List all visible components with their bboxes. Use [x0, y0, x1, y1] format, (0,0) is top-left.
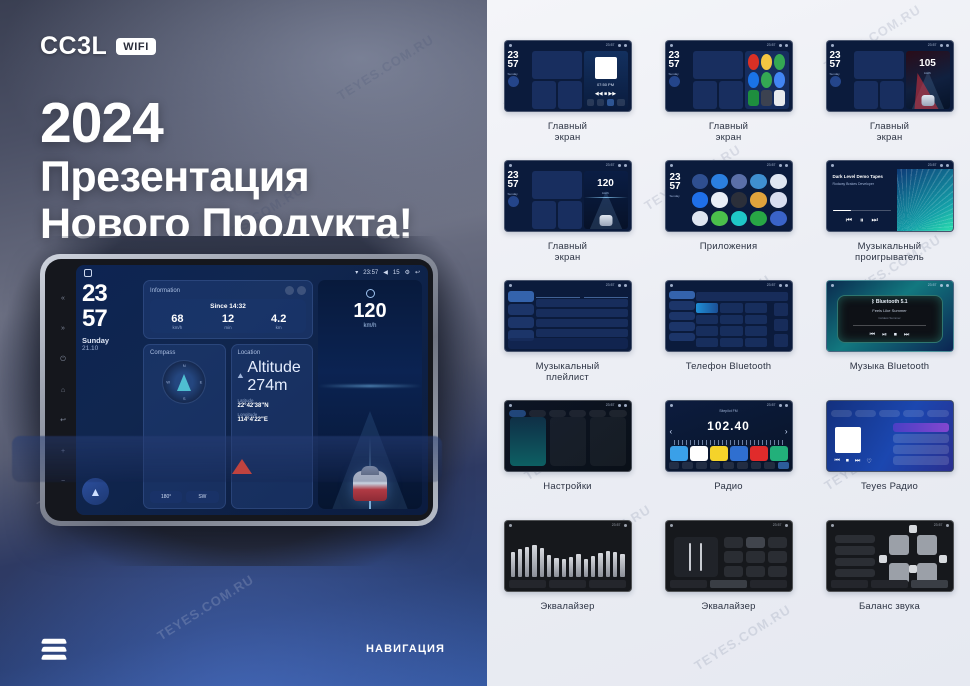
app-icon[interactable] — [731, 192, 748, 207]
preset-button[interactable] — [724, 566, 743, 577]
phone-action-column[interactable] — [774, 303, 788, 347]
player-info: Dark Level Demo Tapes Rodway Brakes Deve… — [827, 169, 898, 231]
gallery-cell[interactable]: 23:57 2357Sunday 07:50 PM ◀◀ ■ ▶▶ Главны… — [487, 40, 648, 160]
compass-direction: SW — [186, 491, 218, 503]
wifi-icon: ▾ — [355, 269, 358, 276]
equalizer-tabs[interactable] — [831, 580, 949, 588]
information-card[interactable]: Information Since 14:32 68 — [143, 280, 313, 339]
tab-wifi[interactable] — [509, 410, 526, 417]
product-logo: CC3L WIFI — [40, 32, 156, 61]
list-item[interactable] — [893, 445, 949, 454]
drive-speed-value: 120 — [584, 178, 628, 189]
thumb-applications[interactable]: 23:57 2357Sunday — [665, 160, 793, 232]
next-icon[interactable]: ⏭ — [855, 458, 860, 465]
key-hash[interactable] — [745, 338, 768, 348]
thumb-caption: Музыкальный проигрыватель — [855, 241, 924, 263]
compass-east-label: E — [200, 380, 203, 385]
key-prev-icon[interactable]: « — [61, 295, 65, 302]
balance-pad[interactable] — [889, 535, 937, 583]
preset-icon[interactable] — [710, 446, 728, 461]
radio-prev-icon[interactable]: ‹ — [670, 427, 673, 436]
playlist-rows[interactable] — [536, 299, 628, 337]
eq-slider[interactable] — [532, 545, 536, 577]
trip-since: Since 14:32 — [152, 303, 304, 310]
compass-dial: N S W E — [162, 360, 206, 404]
altitude-row: ⛰ Altitude 274m — [238, 359, 307, 395]
next-icon[interactable]: ⏭ — [904, 332, 909, 339]
trip-stat-value: 68 — [152, 313, 203, 325]
balance-up-button[interactable] — [909, 525, 917, 533]
phone-number-field[interactable] — [696, 292, 788, 301]
equalizer-tabs[interactable] — [670, 580, 788, 588]
screens-grid: 23:57 2357Sunday 07:50 PM ◀◀ ■ ▶▶ Главны… — [487, 40, 970, 640]
trip-stat: 4.2 km — [253, 313, 304, 330]
application-grid[interactable] — [690, 172, 789, 228]
preset-button[interactable] — [768, 566, 787, 577]
clock-minutes: 57 — [82, 308, 138, 330]
horizon-line — [318, 385, 422, 387]
list-item[interactable] — [893, 423, 949, 432]
gallery-cell[interactable]: 23:57 Музыкальный плейлист — [487, 280, 648, 400]
radio-face: Sitepilot FM 102.40 ‹ › — [666, 409, 792, 471]
eq2-sliders[interactable] — [674, 537, 718, 577]
eq-slider[interactable] — [598, 553, 602, 577]
radio-tuning-scale[interactable] — [674, 440, 784, 445]
app-icon[interactable] — [711, 174, 728, 189]
list-item[interactable] — [835, 535, 875, 543]
car-dashboard: « » ⏻ ⌂ ↩ + − ▾ 23:57 ◀ 15 — [0, 236, 487, 566]
thumb-caption: Эквалайзер — [540, 601, 594, 612]
balance-down-button[interactable] — [909, 565, 917, 573]
preset-icon[interactable] — [730, 446, 748, 461]
trip-stats: 68 km/h 12 min 4.2 — [152, 313, 304, 330]
navigation-arrow-icon[interactable] — [508, 76, 519, 87]
bluetooth-music-card: ᛒ Bluetooth 5.1 Feels Like Summer Coldes… — [837, 295, 943, 343]
thumb-home-screen-drive2[interactable]: 23:57 2357Sunday 120 km/h — [504, 160, 632, 232]
thumb-caption: Телефон Bluetooth — [686, 361, 772, 372]
thumb-music-playlist[interactable]: 23:57 — [504, 280, 632, 352]
compass-bearing: 180° — [150, 491, 182, 503]
preset-icon[interactable] — [770, 446, 788, 461]
stop-icon[interactable]: ⏹ — [894, 332, 897, 339]
list-item[interactable] — [536, 309, 628, 317]
app-icon[interactable] — [761, 54, 772, 70]
drive-widget[interactable]: 120 km/h — [584, 171, 628, 229]
gallery-cell[interactable]: 23:57 Баланс звука — [809, 520, 970, 640]
app-icon[interactable] — [731, 174, 748, 189]
volume-value: 15 — [393, 270, 400, 276]
preset-icon[interactable] — [670, 446, 688, 461]
eq-slider[interactable] — [562, 559, 566, 577]
app-icon[interactable] — [692, 192, 709, 207]
stop-icon[interactable]: ⏹ — [846, 458, 849, 465]
list-item[interactable] — [835, 569, 875, 577]
wifi-badge: WIFI — [116, 38, 156, 55]
thumb-home-screen-media[interactable]: 23:57 2357Sunday 07:50 PM ◀◀ ■ ▶▶ — [504, 40, 632, 112]
key-5[interactable] — [720, 315, 743, 325]
hazard-light-button[interactable] — [232, 459, 252, 474]
phone-sidebar[interactable] — [669, 291, 695, 341]
bt-controls[interactable]: ⏮ ⏯ ⏹ ⏭ — [870, 332, 910, 339]
equalizer-tabs[interactable] — [509, 580, 627, 588]
latitude-row: Latitude 22°42'38"N — [238, 398, 307, 409]
media-widget[interactable]: 07:50 PM ◀◀ ■ ▶▶ — [584, 51, 628, 109]
tab-eq[interactable] — [831, 580, 868, 588]
thumb-bluetooth-phone[interactable]: 23:57 — [665, 280, 793, 352]
trip-stat-unit: km/h — [152, 325, 203, 330]
playlist-sidebar[interactable] — [508, 291, 534, 341]
compass-north-label: N — [183, 363, 186, 368]
eq-slider[interactable] — [700, 543, 702, 572]
widget-row-2: Compass N S W E 180° — [143, 344, 313, 509]
key-star[interactable] — [696, 338, 719, 348]
player-progress-bar[interactable] — [833, 210, 892, 212]
playlist-tabs[interactable] — [536, 291, 628, 298]
app-icon[interactable] — [711, 211, 728, 226]
settings-tabs[interactable] — [509, 410, 627, 417]
clock-day: Sunday — [82, 336, 138, 345]
refresh-icon[interactable] — [285, 286, 294, 295]
speed-value: 120 — [318, 301, 422, 321]
compass-south-label: S — [183, 396, 186, 401]
radio-next-icon[interactable]: › — [785, 427, 788, 436]
eq-slider[interactable] — [525, 547, 529, 577]
altitude-label: Altitude — [247, 359, 300, 377]
preset-button[interactable] — [724, 537, 743, 548]
play-pause-icon[interactable]: ⏯ — [882, 332, 887, 339]
thumb-caption: Радио — [714, 481, 742, 492]
thumb-equalizer[interactable]: 23:57 — [504, 520, 632, 592]
more-tile[interactable] — [590, 417, 626, 466]
longitude-value: 114°4'22"E — [238, 417, 307, 423]
speedometer-icon — [366, 289, 375, 298]
app-icon[interactable] — [774, 54, 785, 70]
preset-button[interactable] — [746, 537, 765, 548]
radio-band: Sitepilot FM — [666, 409, 792, 413]
compass-card-title: Compass — [150, 350, 219, 356]
eq-slider[interactable] — [613, 552, 617, 577]
player-track-title: Dark Level Demo Tapes — [833, 174, 892, 179]
gear-icon[interactable]: ⚙ — [405, 269, 410, 276]
tab-item[interactable] — [903, 410, 924, 417]
thumb-caption: Главный экран — [548, 121, 587, 143]
car-model-icon — [599, 215, 612, 226]
favorite-icon[interactable]: ♡ — [866, 458, 871, 465]
favorite-icon[interactable] — [774, 303, 788, 316]
back-icon[interactable]: ↩ — [415, 269, 420, 276]
app-icon[interactable] — [748, 90, 759, 106]
dashboard-vent-panel — [12, 436, 442, 482]
preset-button[interactable] — [746, 551, 765, 562]
speaker-front-left[interactable] — [889, 535, 909, 555]
navigation-arrow-icon[interactable] — [669, 76, 680, 87]
eq-slider[interactable] — [554, 558, 558, 577]
thumb-equalizer-2[interactable]: 23:57 — [665, 520, 793, 592]
key-4[interactable] — [696, 315, 719, 325]
status-bar: ▾ 23:57 ◀ 15 ⚙ ↩ — [76, 265, 428, 280]
tab-songs[interactable] — [536, 291, 580, 298]
compass-west-label: W — [166, 380, 170, 385]
thumb-caption: Настройки — [543, 481, 591, 492]
list-item[interactable] — [536, 329, 628, 337]
eq-slider[interactable] — [606, 551, 610, 577]
product-logo-text: CC3L — [40, 32, 107, 61]
tab-preset[interactable] — [750, 580, 787, 588]
list-item[interactable] — [536, 299, 628, 307]
app-icon[interactable] — [692, 174, 709, 189]
app-icon[interactable] — [731, 211, 748, 226]
trip-stat-unit: km — [253, 325, 304, 330]
tab-item[interactable] — [855, 410, 876, 417]
mini-status-bar: 23:57 — [505, 41, 631, 49]
list-item[interactable] — [536, 319, 628, 327]
app-icon[interactable] — [750, 174, 767, 189]
tab-sound[interactable] — [529, 410, 546, 417]
gallery-cell[interactable]: 23:57 Dark Level Demo Tapes Rodway Brake… — [809, 160, 970, 280]
speaker-front-right[interactable] — [917, 535, 937, 555]
expand-icon[interactable] — [297, 286, 306, 295]
player-controls[interactable]: ⏮ ⏸ ⏭ — [827, 217, 898, 225]
thumb-radio[interactable]: 23:57 Sitepilot FM 102.40 ‹ › — [665, 400, 793, 472]
tab-preset[interactable] — [911, 580, 948, 588]
app-drawer-icon[interactable] — [774, 90, 785, 106]
teyes-radio-tabs[interactable] — [831, 410, 949, 417]
teyes-radio-controls[interactable]: ⏮ ⏹ ⏭ ♡ — [835, 458, 872, 465]
information-card-body: Since 14:32 68 km/h 12 min — [150, 299, 306, 333]
preset-button[interactable] — [724, 551, 743, 562]
bluetooth-icon: ᛒ — [871, 299, 874, 305]
thumb-caption: Главный экран — [709, 121, 748, 143]
previous-icon[interactable]: ⏮ — [870, 332, 875, 339]
radio-frequency: 102.40 — [666, 419, 792, 433]
key-back-icon[interactable]: ↩ — [60, 417, 66, 424]
app-icon[interactable] — [761, 72, 772, 88]
list-item[interactable] — [835, 546, 875, 554]
preset-button[interactable] — [768, 537, 787, 548]
thumb-sound-balance[interactable]: 23:57 — [826, 520, 954, 592]
preset-button[interactable] — [746, 566, 765, 577]
tab-item[interactable] — [831, 410, 852, 417]
next-icon[interactable]: ⏭ — [872, 217, 878, 225]
thumb-music-player[interactable]: 23:57 Dark Level Demo Tapes Rodway Brake… — [826, 160, 954, 232]
tab-apps[interactable] — [569, 410, 586, 417]
thumb-caption: Эквалайзер — [701, 601, 755, 612]
location-card[interactable]: Location ⛰ Altitude 274m — [231, 344, 314, 509]
thumb-teyes-radio[interactable]: ⏮ ⏹ ⏭ ♡ — [826, 400, 954, 472]
trip-stat-value: 12 — [203, 313, 254, 325]
tab-balance[interactable] — [710, 580, 747, 588]
eq-slider[interactable] — [569, 557, 573, 577]
tab-general[interactable] — [589, 410, 606, 417]
app-icon[interactable] — [770, 192, 787, 207]
list-item[interactable] — [835, 558, 875, 566]
navigation-arrow-icon[interactable] — [508, 196, 519, 207]
eq-slider[interactable] — [518, 549, 522, 577]
tab-system[interactable] — [609, 410, 626, 417]
hero-footer: НАВИГАЦИЯ — [0, 612, 487, 686]
gallery-cell[interactable]: 23:57 Sitepilot FM 102.40 ‹ › — [648, 400, 809, 520]
mountain-icon: ⛰ — [238, 373, 244, 381]
equalizer-sliders[interactable] — [511, 537, 625, 577]
tab-item[interactable] — [927, 410, 948, 417]
thumb-caption: Главный экран — [548, 241, 587, 263]
thumb-caption: Музыка Bluetooth — [850, 361, 930, 372]
clock-date: 21.10 — [82, 345, 138, 352]
key-next-icon[interactable]: » — [61, 325, 65, 332]
app-icon[interactable] — [692, 211, 709, 226]
app-icon[interactable] — [761, 90, 772, 106]
wifi-tile[interactable] — [510, 417, 546, 466]
gallery-cell[interactable]: 23:57 Эквалайзер — [648, 520, 809, 640]
trip-stat-unit: min — [203, 325, 254, 330]
key-power-icon[interactable]: ⏻ — [60, 356, 66, 363]
key-0[interactable] — [720, 338, 743, 348]
balance-preset-list[interactable] — [835, 535, 875, 577]
drive-speed-value: 105 — [906, 58, 950, 69]
gallery-cell[interactable]: 23:57 Телефон Bluetooth — [648, 280, 809, 400]
footer-label: НАВИГАЦИЯ — [366, 643, 445, 655]
compass-needle-icon — [177, 374, 191, 391]
radio-presets[interactable] — [670, 446, 788, 461]
trip-stat-value: 4.2 — [253, 313, 304, 325]
player-track-artist: Rodway Brakes Developer — [833, 182, 892, 186]
tab-eq[interactable] — [670, 580, 707, 588]
eq-slider[interactable] — [591, 556, 595, 577]
playlist-now-playing-bar[interactable] — [508, 338, 628, 349]
head-unit-bezel: « » ⏻ ⌂ ↩ + − ▾ 23:57 ◀ 15 — [40, 254, 438, 526]
list-item[interactable] — [893, 434, 949, 443]
app-icon[interactable] — [711, 192, 728, 207]
app-icon[interactable] — [770, 211, 787, 226]
screens-gallery-panel: TEYES.COM.RU TEYES.COM.RU TEYES.COM.RU T… — [487, 0, 970, 686]
layers-icon — [42, 638, 66, 660]
thumb-caption: Приложения — [700, 241, 758, 252]
bt-progress-bar[interactable] — [853, 325, 926, 326]
volume-icon[interactable]: ◀ — [383, 269, 388, 276]
gallery-cell[interactable]: 23:57 — [487, 520, 648, 640]
speed-unit: km/h — [318, 323, 422, 329]
eq2-presets[interactable] — [724, 537, 787, 577]
gallery-cell[interactable]: ⏮ ⏹ ⏭ ♡ Teyes Радио — [809, 400, 970, 520]
tab-display[interactable] — [549, 410, 566, 417]
altitude-value: 274m — [247, 377, 287, 394]
album-art — [835, 427, 861, 453]
eq-slider[interactable] — [547, 555, 551, 577]
bluetooth-label: ᛒ Bluetooth 5.1 — [871, 299, 907, 305]
tab-folders[interactable] — [584, 291, 628, 298]
thumb-home-screen-apps[interactable]: 23:57 2357Sunday — [665, 40, 793, 112]
app-icon[interactable] — [748, 72, 759, 88]
compass-readouts: 180° SW — [150, 491, 219, 503]
gallery-cell[interactable]: 23:57 ᛒ Bluetooth 5.1 Feels Like Summer … — [809, 280, 970, 400]
latitude-value: 22°42'38"N — [238, 403, 307, 409]
key-6[interactable] — [745, 315, 768, 325]
drive-widget[interactable]: 105 km/h — [906, 51, 950, 109]
previous-icon[interactable]: ⏮ — [835, 458, 840, 465]
location-card-title: Location — [238, 350, 307, 356]
radio-toolbar[interactable] — [669, 462, 789, 469]
car-model-icon — [921, 95, 934, 106]
home-icon[interactable] — [84, 269, 92, 277]
tab-eq[interactable] — [509, 580, 546, 588]
eq-slider[interactable] — [584, 559, 588, 577]
gallery-cell[interactable]: 23:57 2357Sunday 120 km/h Главный экран — [487, 160, 648, 280]
preset-icon[interactable] — [750, 446, 768, 461]
key-2[interactable] — [720, 303, 743, 313]
key-1[interactable] — [696, 303, 719, 313]
status-clock: 23:57 — [363, 270, 378, 276]
preset-button[interactable] — [768, 551, 787, 562]
teyes-radio-station-list[interactable] — [893, 423, 949, 465]
thumb-home-screen-drive[interactable]: 23:57 2357Sunday 105 km/h — [826, 40, 954, 112]
navigation-arrow-icon[interactable] — [830, 76, 841, 87]
speed-readout: 120 km/h — [318, 289, 422, 329]
key-8[interactable] — [720, 326, 743, 336]
eq-slider[interactable] — [511, 552, 515, 577]
headline-year: 2024 — [40, 92, 460, 154]
thumb-bluetooth-music[interactable]: 23:57 ᛒ Bluetooth 5.1 Feels Like Summer … — [826, 280, 954, 352]
app-icon[interactable] — [750, 192, 767, 207]
key-home-icon[interactable]: ⌂ — [61, 387, 65, 394]
gallery-cell[interactable]: 23:57 2357Sunday 105 km/h Главный экран — [809, 40, 970, 160]
tab-balance[interactable] — [549, 580, 586, 588]
player-visualizer — [897, 169, 952, 231]
phone-keypad[interactable] — [696, 303, 768, 347]
eq-slider[interactable] — [620, 554, 624, 577]
trip-stat: 68 km/h — [152, 313, 203, 330]
thumb-caption: Teyes Радио — [861, 481, 918, 492]
tab-balance[interactable] — [871, 580, 908, 588]
tab-item[interactable] — [879, 410, 900, 417]
thumb-caption: Баланс звука — [859, 601, 920, 612]
gallery-cell[interactable]: 23:57 2357Sunday — [648, 160, 809, 280]
call-icon[interactable] — [774, 334, 788, 347]
app-icon[interactable] — [748, 54, 759, 70]
key-7[interactable] — [696, 326, 719, 336]
preset-icon[interactable] — [690, 446, 708, 461]
app-icon[interactable] — [750, 211, 767, 226]
page-title: 2024 Презентация Нового Продукта! — [40, 92, 460, 248]
app-icon[interactable] — [774, 72, 785, 88]
balance-left-button[interactable] — [879, 555, 887, 563]
gallery-cell[interactable]: 23:57 Настройки — [487, 400, 648, 520]
hotspot-tile[interactable] — [550, 417, 586, 466]
key-9[interactable] — [745, 326, 768, 336]
navigation-arrow-icon[interactable]: ▲ — [82, 478, 109, 505]
eq-slider[interactable] — [689, 543, 691, 572]
backspace-icon[interactable] — [774, 319, 788, 332]
settings-tiles[interactable] — [510, 417, 626, 466]
app-icon[interactable] — [770, 174, 787, 189]
thumb-settings[interactable]: 23:57 — [504, 400, 632, 472]
list-item[interactable] — [893, 456, 949, 465]
information-card-title: Information — [150, 288, 282, 294]
gallery-cell[interactable]: 23:57 2357Sunday — [648, 40, 809, 160]
eq-slider[interactable] — [576, 554, 580, 577]
bt-track-title: Feels Like Summer — [872, 308, 906, 313]
compass-card[interactable]: Compass N S W E 180° — [143, 344, 226, 509]
tab-preset[interactable] — [589, 580, 626, 588]
eq-slider[interactable] — [540, 548, 544, 577]
key-3[interactable] — [745, 303, 768, 313]
app-shortcut-widget[interactable] — [745, 51, 789, 109]
clock-hours: 23 — [82, 283, 138, 305]
longitude-row: Longitude 114°4'22"E — [238, 412, 307, 423]
previous-icon[interactable]: ⏮ — [846, 217, 852, 225]
information-card-header: Information — [150, 286, 306, 295]
pause-icon[interactable]: ⏸ — [860, 217, 864, 225]
balance-right-button[interactable] — [939, 555, 947, 563]
